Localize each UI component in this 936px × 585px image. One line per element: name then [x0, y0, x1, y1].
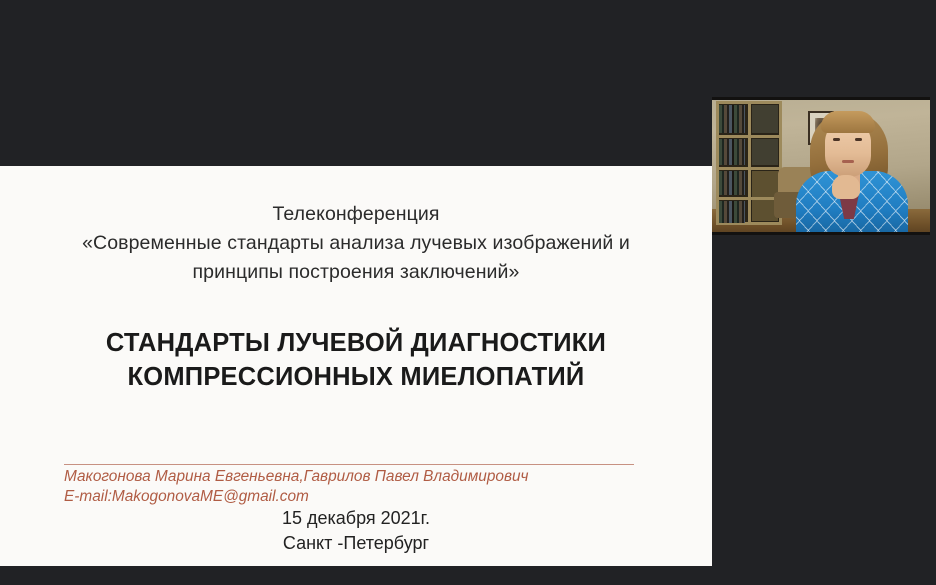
authors-divider [64, 464, 634, 465]
speaker-hair-front [821, 111, 875, 133]
video-letterbox-top [712, 97, 930, 100]
speaker-eye-right [855, 138, 862, 141]
conference-line-2: «Современные стандарты анализа лучевых и… [0, 229, 712, 258]
conference-line-1: Телеконференция [0, 200, 712, 229]
speaker-hand [832, 175, 860, 199]
books-row-1 [719, 105, 745, 133]
shelf-center-post [748, 101, 751, 225]
conference-line-3: принципы построения заключений» [0, 258, 712, 287]
books-row-3 [719, 171, 745, 195]
speaker-eye-left [833, 138, 840, 141]
conference-heading: Телеконференция «Современные стандарты а… [0, 200, 712, 287]
speaker-mouth [842, 160, 854, 163]
author-names: Макогонова Марина Евгеньевна,Гаврилов Па… [64, 467, 634, 487]
event-date: 15 декабря 2021г. [0, 506, 712, 531]
author-email: E-mail:MakogonovaME@gmail.com [64, 487, 634, 507]
shelf-glass-panel-2 [752, 139, 778, 165]
video-letterbox-bottom [712, 232, 930, 235]
slide-title-line-1: СТАНДАРТЫ ЛУЧЕВОЙ ДИАГНОСТИКИ [0, 326, 712, 360]
participant-video-tile[interactable] [712, 97, 930, 235]
books-row-2 [719, 139, 745, 165]
shelf-glass-panel [752, 105, 778, 133]
shared-slide[interactable]: Телеконференция «Современные стандарты а… [0, 166, 712, 566]
authors-block: Макогонова Марина Евгеньевна,Гаврилов Па… [64, 464, 634, 507]
event-place-block: 15 декабря 2021г. Санкт -Петербург [0, 506, 712, 556]
event-city: Санкт -Петербург [0, 531, 712, 556]
slide-title: СТАНДАРТЫ ЛУЧЕВОЙ ДИАГНОСТИКИ КОМПРЕССИО… [0, 326, 712, 394]
slide-title-line-2: КОМПРЕССИОННЫХ МИЕЛОПАТИЙ [0, 360, 712, 394]
conference-stage: Телеконференция «Современные стандарты а… [0, 0, 936, 585]
books-row-4 [719, 201, 745, 223]
slide-content: Телеконференция «Современные стандарты а… [0, 166, 712, 566]
